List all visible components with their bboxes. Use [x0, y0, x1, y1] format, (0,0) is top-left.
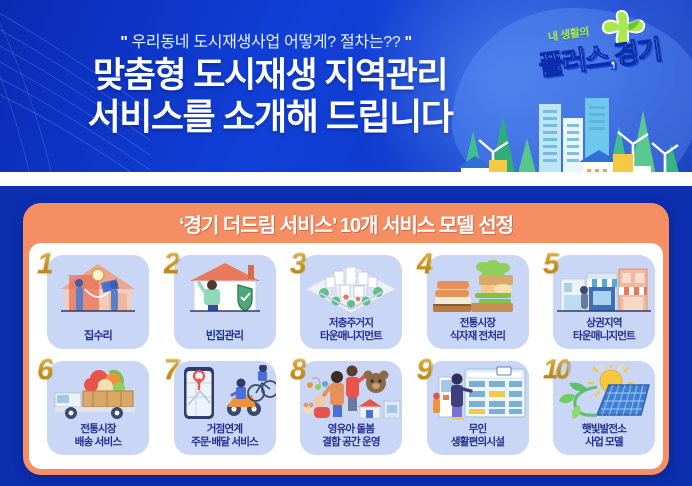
card-label: 영유아 돌봄 결합 공간 운영	[300, 423, 402, 449]
card-tile: 햇빛발전소 사업 모델	[553, 361, 655, 455]
card-number: 9	[417, 355, 432, 385]
card-label: 전통시장 식자재 전처리	[427, 317, 529, 343]
services-row-2: 6	[37, 355, 655, 461]
service-card-1[interactable]: 1	[37, 249, 149, 349]
service-card-9[interactable]: 9	[417, 355, 529, 455]
hero-subtitle-text: 우리동네 도시재생사업 어떻게? 절차는??	[132, 34, 401, 51]
gyeonggi-plus-logo: 내 생활의 플러스,경기	[530, 6, 680, 84]
commercial-street-icon	[553, 259, 655, 315]
mobile-delivery-icon	[174, 365, 276, 421]
card-label: 무인 생활편의시설	[427, 423, 529, 449]
hero-banner: "우리동네 도시재생사업 어떻게? 절차는??" 맞춤형 도시재생 지역관리 서…	[0, 0, 692, 172]
empty-house-shield-icon	[174, 259, 276, 315]
quote-close-mark: "	[400, 34, 415, 51]
card-tile: 영유아 돌봄 결합 공간 운영	[300, 361, 402, 455]
card-label: 빈집관리	[174, 330, 276, 343]
card-label: 상권지역 타운매니지먼트	[553, 317, 655, 343]
service-card-6[interactable]: 6	[37, 355, 149, 455]
white-separator-band	[0, 172, 692, 186]
low-rise-neighborhood-icon	[300, 259, 402, 315]
card-label: 햇빛발전소 사업 모델	[553, 423, 655, 449]
market-ingredients-icon	[427, 259, 529, 315]
card-label: 거점연계 주문·배달 서비스	[174, 423, 276, 449]
card-number: 3	[290, 249, 305, 279]
panel-title: ‘경기 더드림 서비스’ 10개 서비스 모델 선정	[29, 209, 663, 243]
card-number: 7	[164, 355, 179, 385]
card-label: 저층주거지 타운매니지먼트	[300, 317, 402, 343]
solar-power-icon	[553, 365, 655, 421]
service-card-5[interactable]: 5	[543, 249, 655, 349]
card-label: 전통시장 배송 서비스	[47, 423, 149, 449]
card-tile: 전통시장 식자재 전처리	[427, 255, 529, 349]
card-label: 집수리	[47, 330, 149, 343]
services-grid: 1	[29, 243, 663, 469]
headline-line-1: 맞춤형 도시재생 지역관리	[0, 55, 540, 96]
service-card-3[interactable]: 3	[290, 249, 402, 349]
card-number: 5	[543, 249, 558, 279]
card-tile: 저층주거지 타운매니지먼트	[300, 255, 402, 349]
childcare-space-icon	[300, 365, 402, 421]
card-tile: 무인 생활편의시설	[427, 361, 529, 455]
house-repair-icon	[47, 259, 149, 315]
card-number: 10	[543, 355, 568, 383]
logo-gyeonggi-word: 경기	[612, 35, 662, 71]
services-row-1: 1	[37, 249, 655, 355]
card-number: 6	[37, 355, 52, 385]
card-tile: 집수리	[47, 255, 149, 349]
infographic-canvas: "우리동네 도시재생사업 어떻게? 절차는??" 맞춤형 도시재생 지역관리 서…	[0, 0, 692, 486]
unmanned-kiosk-icon	[427, 365, 529, 421]
logo-plus-word: 플러스,	[537, 41, 616, 81]
card-number: 8	[290, 355, 305, 385]
service-card-10[interactable]: 10	[543, 355, 655, 455]
card-number: 1	[37, 249, 52, 279]
city-skyline-illustration	[427, 96, 692, 172]
quote-open-mark: "	[116, 34, 131, 51]
card-number: 4	[417, 249, 432, 279]
hero-subtitle: "우리동네 도시재생사업 어떻게? 절차는??"	[0, 28, 532, 52]
card-tile: 전통시장 배송 서비스	[47, 361, 149, 455]
services-panel: ‘경기 더드림 서비스’ 10개 서비스 모델 선정 1	[23, 203, 669, 475]
card-tile: 상권지역 타운매니지먼트	[553, 255, 655, 349]
delivery-truck-icon	[47, 365, 149, 421]
card-number: 2	[164, 249, 179, 279]
service-card-8[interactable]: 8	[290, 355, 402, 455]
service-card-4[interactable]: 4	[417, 249, 529, 349]
card-tile: 거점연계 주문·배달 서비스	[174, 361, 276, 455]
service-card-2[interactable]: 2	[164, 249, 276, 349]
service-card-7[interactable]: 7	[164, 355, 276, 455]
card-tile: 빈집관리	[174, 255, 276, 349]
